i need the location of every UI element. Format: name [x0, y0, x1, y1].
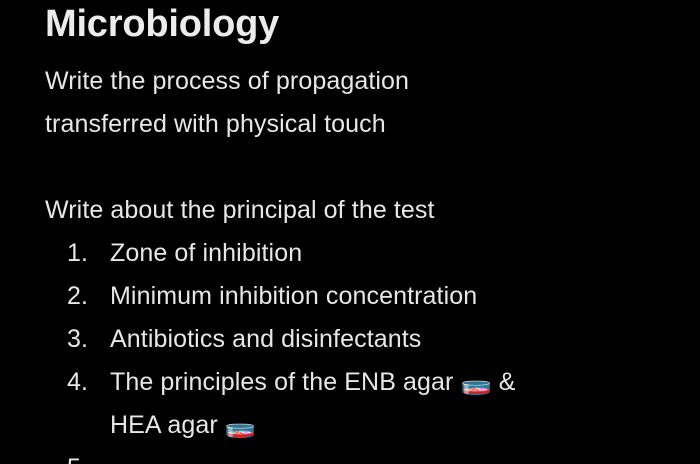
section-heading: Write about the principal of the test — [45, 189, 680, 232]
numbered-list: 1. Zone of inhibition 2. Minimum inhibit… — [45, 232, 680, 447]
intro-line-1: Write the process of propagation — [45, 60, 680, 103]
list-item-text: The principles of the ENB agar 🧫 & HEA a… — [110, 361, 680, 447]
list-item-line: Antibiotics and disinfectants — [110, 318, 680, 361]
list-item-number: 5. — [67, 447, 101, 464]
list-item-number: 1. — [67, 232, 101, 275]
list-item-number: 2. — [67, 275, 101, 318]
list-item: 4. The principles of the ENB agar 🧫 & HE… — [45, 361, 680, 447]
list-item-line: HEA agar 🧫 — [110, 404, 680, 447]
list-item-line: Zone of inhibition — [110, 232, 680, 275]
list-item-text: Minimum inhibition concentration — [110, 275, 680, 318]
intro-paragraph: Write the process of propagation transfe… — [45, 60, 680, 146]
list-item-number: 3. — [67, 318, 101, 361]
page-title: Microbiology — [45, 0, 680, 46]
list-item-text: Antibiotics and disinfectants — [110, 318, 680, 361]
intro-line-2: transferred with physical touch — [45, 103, 680, 146]
list-item: 2. Minimum inhibition concentration — [45, 275, 680, 318]
list-item: 3. Antibiotics and disinfectants — [45, 318, 680, 361]
list-item-text: Zone of inhibition — [110, 232, 680, 275]
list-item: 1. Zone of inhibition — [45, 232, 680, 275]
paragraph-spacer — [45, 146, 680, 189]
list-item-line: Minimum inhibition concentration — [110, 275, 680, 318]
list-item-line: The principles of the ENB agar 🧫 & — [110, 361, 680, 404]
list-item-number: 4. — [67, 361, 101, 404]
document-page: Microbiology Write the process of propag… — [0, 0, 700, 464]
